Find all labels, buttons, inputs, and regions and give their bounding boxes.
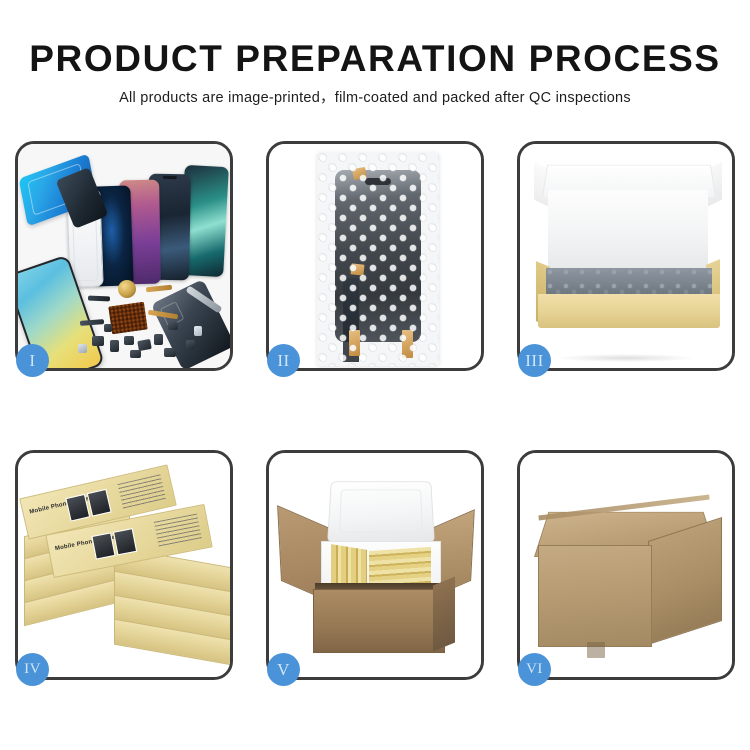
page-title: PRODUCT PREPARATION PROCESS	[0, 38, 750, 80]
phones-and-parts-scene	[18, 144, 230, 368]
small-component-icon	[110, 340, 119, 352]
process-step-panel-6: VI	[517, 450, 735, 680]
flex-cable-icon	[146, 285, 172, 293]
tape-icon	[352, 167, 367, 180]
step-badge-5: V	[267, 653, 300, 686]
tape-icon	[350, 263, 364, 275]
bubble-wrap-package-icon	[317, 152, 439, 366]
step-badge-4: IV	[16, 653, 49, 686]
gray-foam-padding-icon	[546, 268, 712, 294]
step-1-image	[18, 144, 230, 368]
step-6-image	[520, 453, 732, 677]
circuit-board-icon	[108, 302, 148, 335]
step-5-image	[269, 453, 481, 677]
process-step-grid: I II	[15, 141, 735, 679]
carton-side-panel	[648, 517, 722, 645]
step-4-image: Mobile Phone Spare Parts Mobile Phone Sp…	[18, 453, 230, 677]
step-badge-6: VI	[518, 653, 551, 686]
step-2-image	[269, 144, 481, 368]
small-component-icon	[154, 334, 163, 345]
tape-icon	[402, 330, 413, 358]
page-subtitle: All products are image-printed，film-coat…	[0, 88, 750, 108]
process-step-panel-5: V	[266, 450, 484, 680]
small-component-icon	[92, 336, 104, 346]
foam-box-lid-icon	[327, 481, 435, 543]
box-label-window	[113, 528, 137, 555]
stacked-boxes-scene: Mobile Phone Spare Parts Mobile Phone Sp…	[18, 453, 230, 677]
process-step-panel-3: III	[517, 141, 735, 371]
small-component-icon	[186, 340, 195, 349]
notch-icon	[163, 176, 177, 179]
speaker-module-icon	[118, 280, 136, 298]
tape-icon	[349, 330, 360, 356]
flex-cable-icon	[80, 319, 104, 326]
process-step-panel-4: Mobile Phone Spare Parts Mobile Phone Sp…	[15, 450, 233, 680]
box-label-spec-lines	[117, 474, 166, 509]
carton-handle-tab	[587, 642, 605, 658]
carton-right-side	[433, 577, 455, 652]
sealed-carton-scene	[520, 453, 732, 677]
carton-front-panel	[313, 589, 445, 653]
open-box-with-foam-scene	[520, 144, 732, 368]
small-component-icon	[78, 344, 87, 353]
white-foam-sheet-icon	[548, 190, 708, 268]
small-component-icon	[104, 324, 112, 332]
step-badge-2: II	[267, 344, 300, 377]
step-badge-1: I	[16, 344, 49, 377]
small-component-icon	[164, 348, 176, 357]
small-component-icon	[194, 326, 202, 336]
drop-shadow	[558, 354, 694, 362]
carton-with-foam-scene	[269, 453, 481, 677]
bubble-wrapped-screen-scene	[269, 144, 481, 368]
box-front-panel	[538, 294, 720, 328]
step-3-image	[520, 144, 732, 368]
flex-cable-icon	[88, 296, 110, 302]
box-label-window	[91, 532, 115, 559]
product-preparation-process-page: PRODUCT PREPARATION PROCESS All products…	[0, 0, 750, 750]
small-component-icon	[130, 350, 141, 358]
process-step-panel-2: II	[266, 141, 484, 371]
box-label-spec-lines	[154, 514, 202, 548]
header: PRODUCT PREPARATION PROCESS All products…	[0, 38, 750, 108]
carton-front-panel	[538, 545, 652, 647]
small-component-icon	[124, 336, 134, 345]
process-step-panel-1: I	[15, 141, 233, 371]
step-badge-3: III	[518, 344, 551, 377]
small-component-icon	[168, 322, 178, 330]
box-label-window	[87, 489, 112, 517]
